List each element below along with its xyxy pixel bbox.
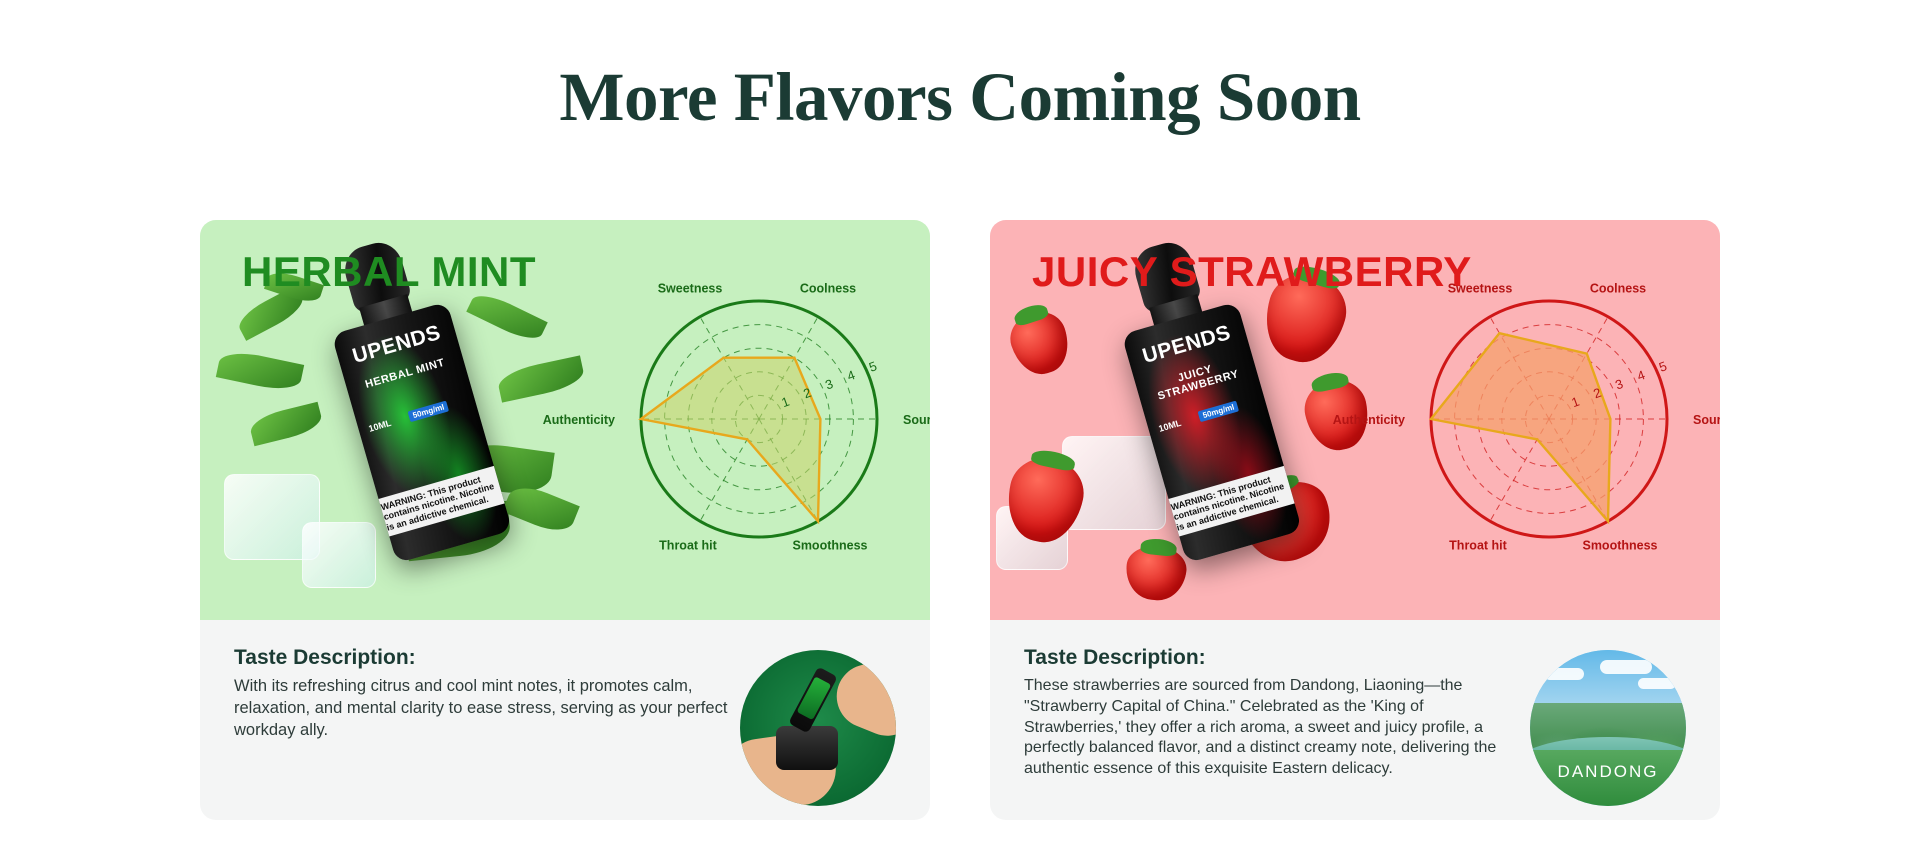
radar-series-polygon (641, 358, 820, 522)
card-info: Taste Description: These strawberries ar… (990, 620, 1720, 820)
thumbnail-caption: DANDONG (1530, 762, 1686, 782)
taste-description-heading: Taste Description: (1024, 646, 1518, 670)
card-hero-image: UPENDS HERBAL MINT 10ML 50mg/ml WARNING:… (200, 220, 930, 620)
leaf-icon (248, 402, 325, 447)
card-hero-image: UPENDS JUICY STRAWBERRY 10ML 50mg/ml WAR… (990, 220, 1720, 620)
svg-text:Smoothness: Smoothness (1582, 539, 1657, 553)
page-root: More Flavors Coming Soon (0, 0, 1920, 856)
svg-text:Authenticity: Authenticity (543, 413, 615, 427)
svg-text:Throat hit: Throat hit (1449, 539, 1507, 553)
svg-text:Throat hit: Throat hit (659, 539, 717, 553)
eliquid-dropper-icon (788, 667, 837, 734)
svg-text:Coolness: Coolness (1590, 281, 1646, 295)
svg-text:Smoothness: Smoothness (792, 539, 867, 553)
card-thumbnail-dandong: DANDONG (1530, 650, 1686, 806)
svg-text:Authenticity: Authenticity (1333, 413, 1405, 427)
radar-svg: 12345 SweetnessCoolnessSournessSmoothnes… (1384, 254, 1714, 584)
taste-description-heading: Taste Description: (234, 646, 728, 670)
svg-text:Sweetness: Sweetness (1448, 281, 1513, 295)
leaf-icon (496, 355, 586, 402)
cloud-icon (1600, 660, 1652, 674)
card-thumbnail-pod-filling (740, 650, 896, 806)
vape-pod-icon (776, 726, 838, 770)
radar-svg: 12345 SweetnessCoolnessSournessSmoothnes… (594, 254, 924, 584)
leaf-icon (216, 348, 304, 395)
taste-description-body: These strawberries are sourced from Dand… (1024, 676, 1518, 780)
product-photo-juicy-strawberry: UPENDS JUICY STRAWBERRY 10ML 50mg/ml WAR… (1000, 260, 1400, 620)
page-title: More Flavors Coming Soon (0, 58, 1920, 137)
svg-text:4: 4 (845, 367, 857, 384)
svg-text:Sweetness: Sweetness (658, 281, 723, 295)
ice-cube-icon (302, 522, 376, 588)
taste-description-block: Taste Description: With its refreshing c… (234, 646, 728, 820)
card-info: Taste Description: With its refreshing c… (200, 620, 930, 820)
leaf-icon (466, 288, 548, 346)
svg-text:4: 4 (1635, 367, 1647, 384)
taste-description-block: Taste Description: These strawberries ar… (1024, 646, 1518, 820)
dropper-label (797, 676, 832, 720)
flavor-title: HERBAL MINT (242, 248, 536, 296)
taste-description-body: With its refreshing citrus and cool mint… (234, 676, 728, 741)
product-photo-herbal-mint: UPENDS HERBAL MINT 10ML 50mg/ml WARNING:… (210, 260, 610, 620)
flavor-card-herbal-mint[interactable]: UPENDS HERBAL MINT 10ML 50mg/ml WARNING:… (200, 220, 930, 820)
flavor-card-juicy-strawberry[interactable]: UPENDS JUICY STRAWBERRY 10ML 50mg/ml WAR… (990, 220, 1720, 820)
svg-text:Sourness: Sourness (903, 413, 930, 427)
radar-chart-juicy-strawberry: 12345 SweetnessCoolnessSournessSmoothnes… (1384, 254, 1714, 584)
strawberry-icon (1123, 543, 1188, 603)
cloud-icon (1638, 678, 1676, 689)
cloud-icon (1544, 668, 1584, 680)
strawberry-icon (1004, 305, 1076, 381)
svg-text:3: 3 (1613, 376, 1625, 393)
radar-chart-herbal-mint: 12345 SweetnessCoolnessSournessSmoothnes… (594, 254, 924, 584)
svg-text:Sourness: Sourness (1693, 413, 1720, 427)
svg-text:3: 3 (823, 376, 835, 393)
svg-text:Coolness: Coolness (800, 281, 856, 295)
